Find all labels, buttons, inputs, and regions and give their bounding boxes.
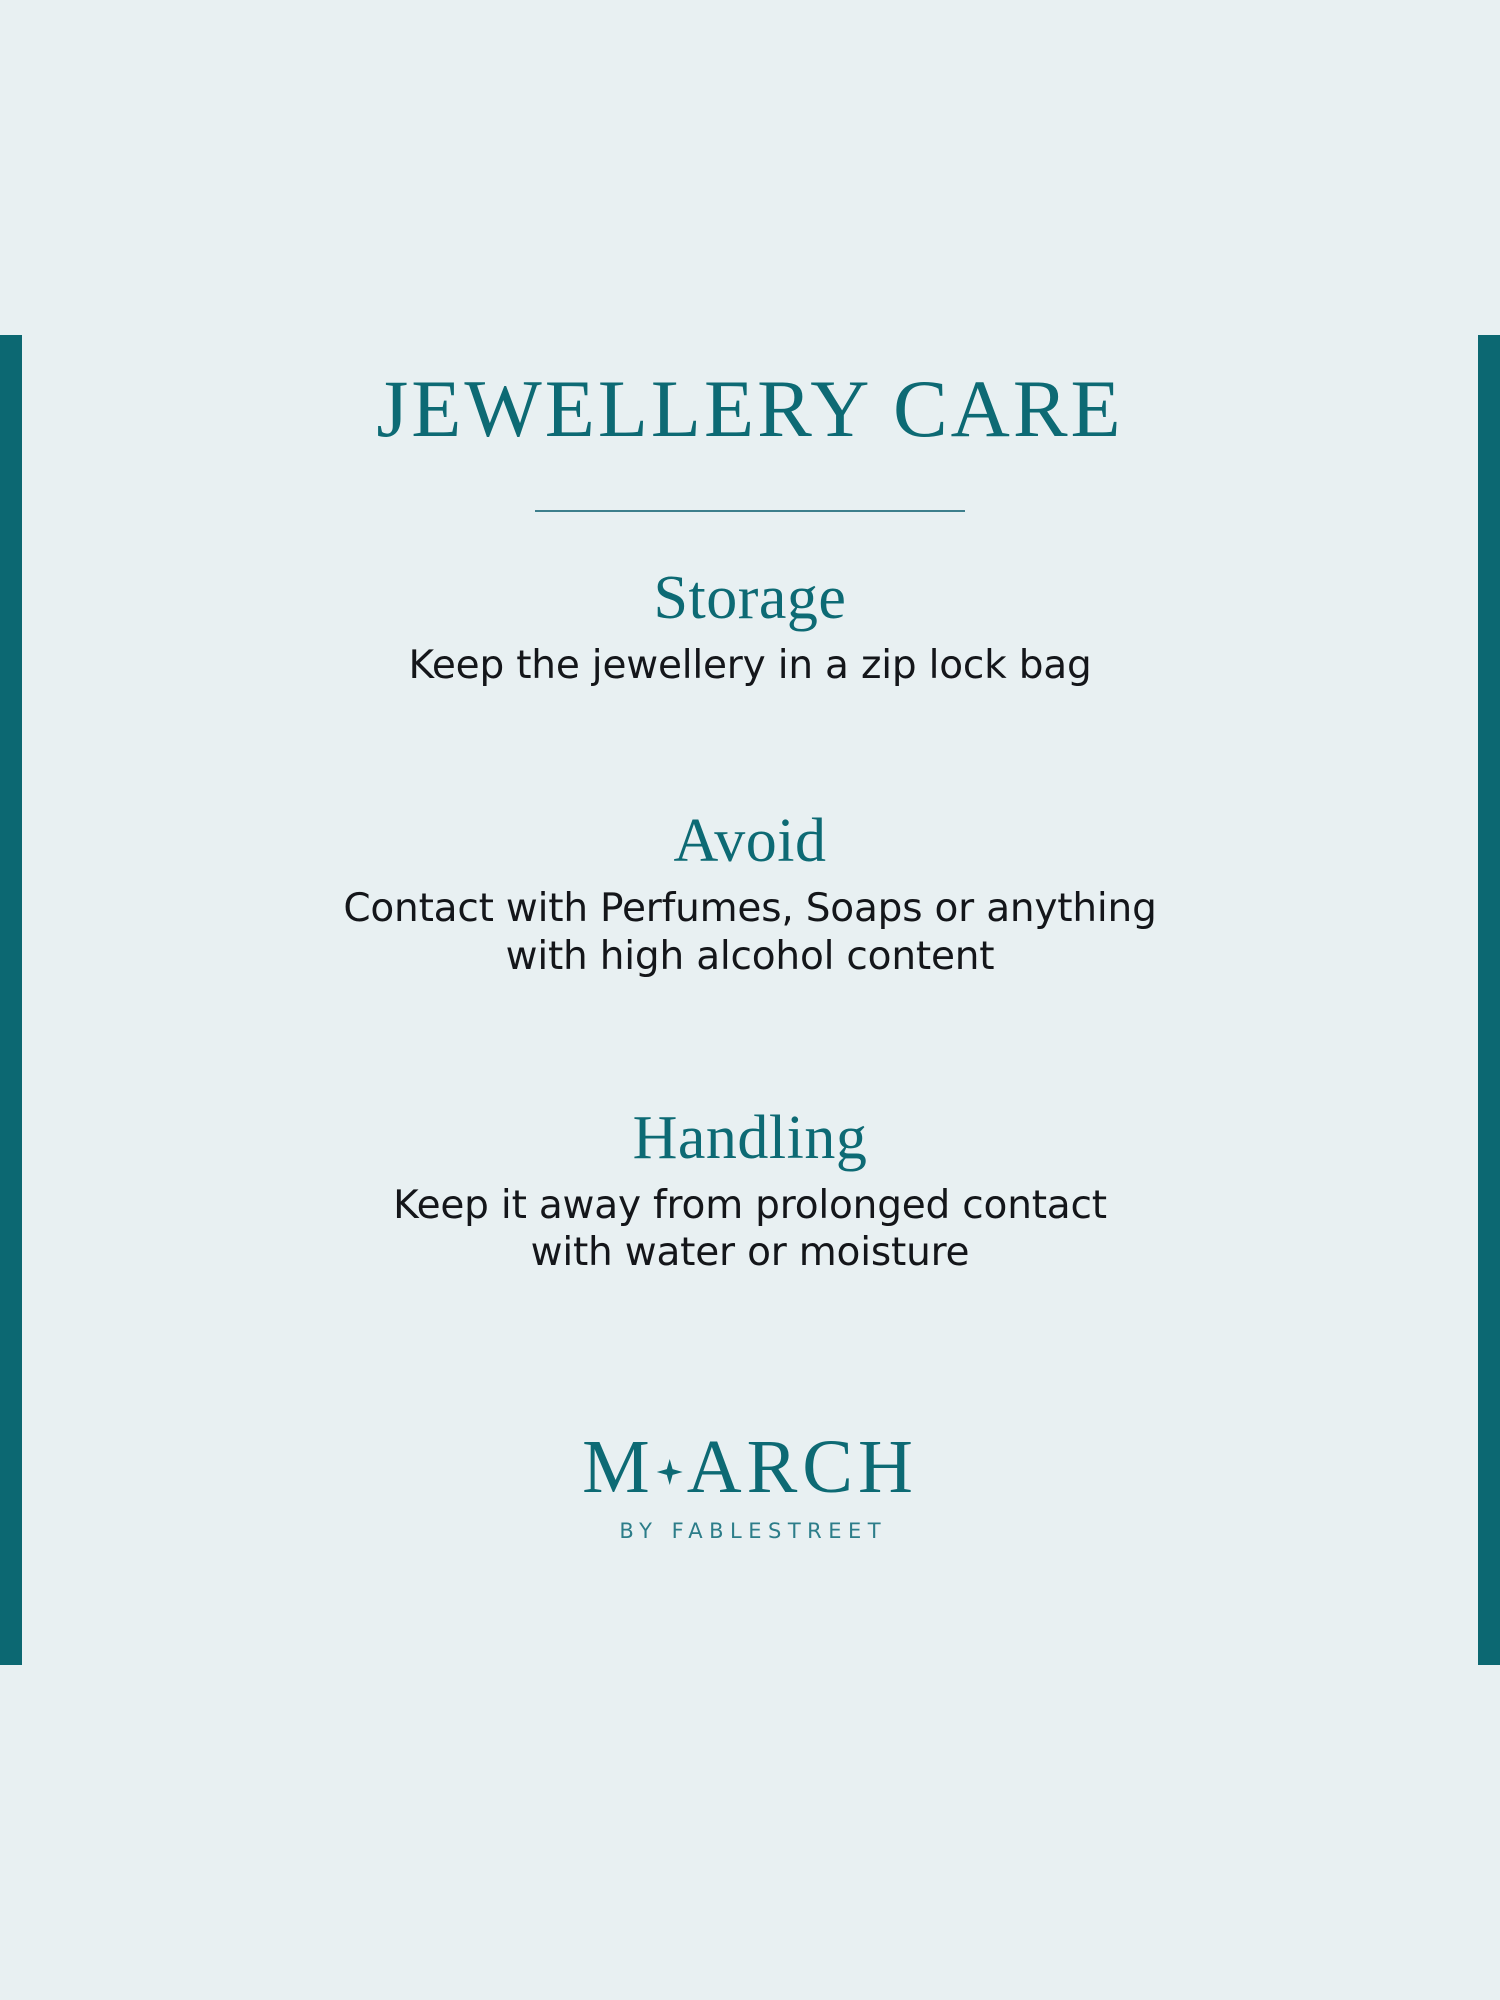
section-body-storage: Keep the jewellery in a zip lock bag xyxy=(225,642,1275,690)
brand-wordmark: M ARCH xyxy=(582,1429,918,1505)
brand-name-rest: ARCH xyxy=(687,1429,918,1505)
brand-logo: M ARCH BY FABLESTREET xyxy=(582,1429,918,1543)
section-heading-avoid: Avoid xyxy=(0,809,1500,875)
title-divider xyxy=(535,510,965,512)
section-storage: Storage Keep the jewellery in a zip lock… xyxy=(0,566,1500,689)
section-avoid: Avoid Contact with Perfumes, Soaps or an… xyxy=(0,809,1500,980)
section-body-avoid: Contact with Perfumes, Soaps or anything… xyxy=(225,885,1275,980)
section-body-handling: Keep it away from prolonged contact with… xyxy=(225,1182,1275,1277)
content-column: JEWELLERY CARE Storage Keep the jeweller… xyxy=(0,0,1500,2000)
four-point-star-icon xyxy=(657,1459,683,1485)
section-heading-handling: Handling xyxy=(0,1106,1500,1172)
page-title: JEWELLERY CARE xyxy=(376,368,1123,450)
brand-tagline: BY FABLESTREET xyxy=(613,1519,887,1543)
brand-name-initial: M xyxy=(582,1429,655,1505)
section-heading-storage: Storage xyxy=(0,566,1500,632)
section-handling: Handling Keep it away from prolonged con… xyxy=(0,1106,1500,1277)
jewellery-care-card: JEWELLERY CARE Storage Keep the jeweller… xyxy=(0,0,1500,2000)
